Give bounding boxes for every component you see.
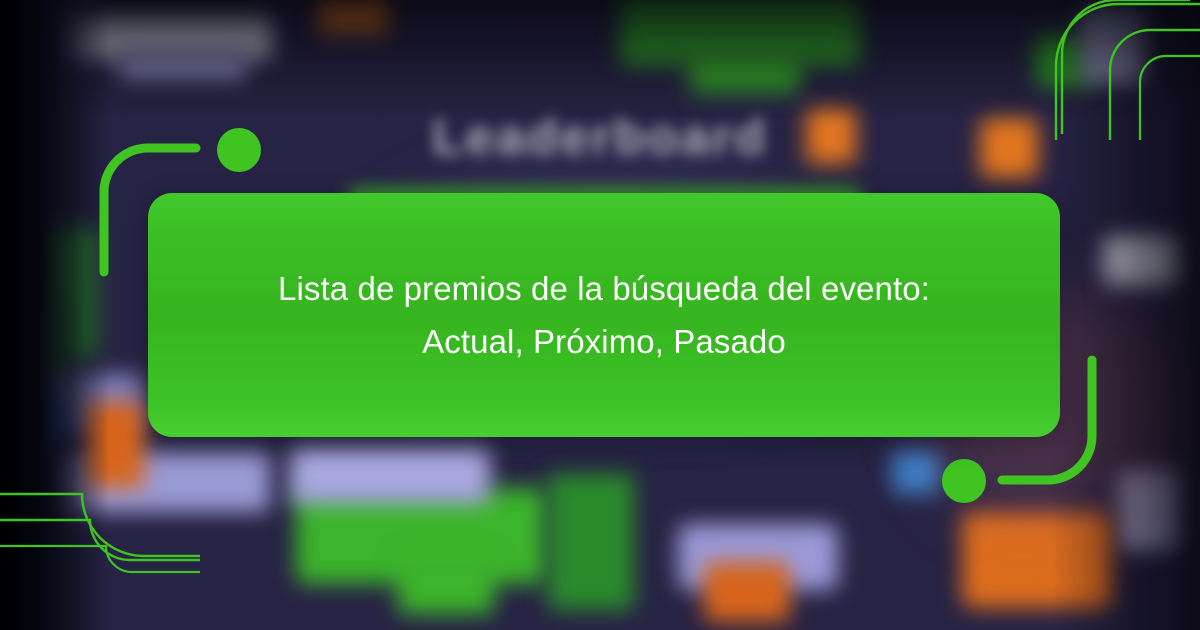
bg-block-orange-bottom-center [704, 562, 790, 622]
bg-block-green-bottom-left [548, 474, 634, 610]
bg-block-green-center-bottom-b [398, 556, 494, 614]
banner-canvas: Leaderboard [0, 0, 1200, 630]
title-card: Lista de premios de la búsqueda del even… [148, 193, 1060, 437]
bg-block-blue-bottom-right [892, 450, 940, 494]
card-title: Lista de premios de la búsqueda del even… [238, 262, 970, 369]
background-vignette-left [0, 0, 110, 630]
accent-dot-bottom-right [942, 459, 986, 503]
background-vignette-right [1050, 0, 1200, 630]
background-vignette-top [0, 0, 1200, 120]
accent-dot-top-left [217, 128, 261, 172]
bg-block-lavender-bottom-center [290, 448, 490, 504]
